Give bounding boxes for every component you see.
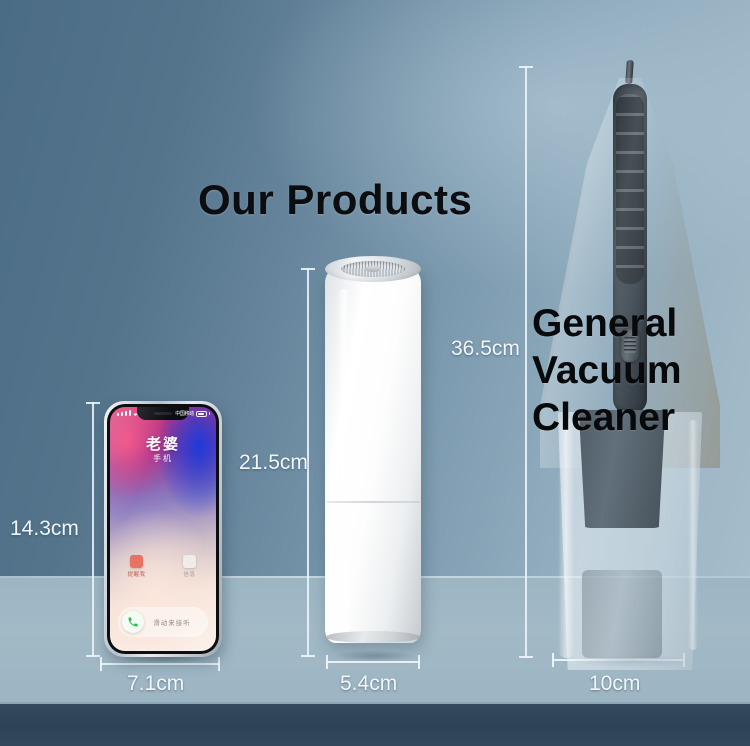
vacuum-height-label: 36.5cm: [451, 337, 520, 361]
phone-bezel: 中国移动 老婆 手机 提醒我 信息: [107, 404, 219, 654]
phone-height-line: [92, 402, 94, 657]
vacuum-height-line: [525, 66, 527, 658]
vacuum-title-line-1: General: [532, 300, 682, 347]
phone-width-label: 7.1cm: [127, 672, 184, 696]
vacuum-width-label: 10cm: [589, 672, 640, 696]
answer-call-knob[interactable]: [122, 611, 144, 633]
clock-reminder-icon: [130, 555, 143, 568]
message-icon: [183, 555, 196, 568]
phone-height-label: 14.3cm: [10, 517, 79, 541]
page-title: Our Products: [198, 176, 472, 224]
humidifier-grille-icon: [341, 261, 405, 277]
message-label: 信息: [163, 570, 216, 578]
battery-icon: [196, 411, 207, 417]
humidifier-width-label: 5.4cm: [340, 672, 397, 696]
slide-to-answer-bar[interactable]: 滑动来接听: [118, 607, 208, 637]
call-actions-row: 提醒我 信息: [110, 555, 216, 578]
battery-tip-icon: [209, 412, 210, 415]
caller-name: 老婆: [110, 433, 216, 454]
humidifier-height-label: 21.5cm: [239, 451, 308, 475]
humidifier-seam: [326, 501, 420, 503]
vacuum-tank-gloss-left: [558, 418, 574, 658]
floor-band: [0, 704, 750, 746]
vacuum-product-title: General Vacuum Cleaner: [532, 300, 682, 441]
slide-hint-label: 滑动来接听: [144, 617, 208, 627]
wifi-icon: [132, 411, 139, 417]
remind-me-label: 提醒我: [110, 570, 163, 578]
smartphone-product: 中国移动 老婆 手机 提醒我 信息: [104, 401, 222, 657]
humidifier-body: [325, 269, 421, 643]
earpiece-speaker-icon: [154, 412, 172, 415]
vacuum-tank-gloss-right: [688, 420, 698, 650]
signal-bars-icon: [117, 410, 131, 416]
humidifier-top-cap: [325, 256, 421, 282]
vacuum-grip-ridges: [616, 94, 644, 284]
remind-me-action[interactable]: 提醒我: [110, 555, 163, 578]
vacuum-title-line-2: Vacuum: [532, 347, 682, 394]
message-action[interactable]: 信息: [163, 555, 216, 578]
vacuum-title-line-3: Cleaner: [532, 394, 682, 441]
carrier-label: 中国移动: [175, 410, 194, 417]
humidifier-base: [326, 631, 420, 643]
phone-screen: 中国移动 老婆 手机 提醒我 信息: [110, 407, 216, 651]
caller-subtitle: 手机: [110, 453, 216, 464]
product-comparison-image: 中国移动 老婆 手机 提醒我 信息: [0, 0, 750, 746]
humidifier-product: [325, 256, 421, 656]
phone-handset-icon: [127, 616, 139, 628]
humidifier-highlight: [337, 289, 351, 641]
vacuum-filter-block: [582, 570, 662, 658]
phone-status-right: 中国移动: [175, 410, 210, 417]
humidifier-grille-hub: [365, 266, 381, 272]
